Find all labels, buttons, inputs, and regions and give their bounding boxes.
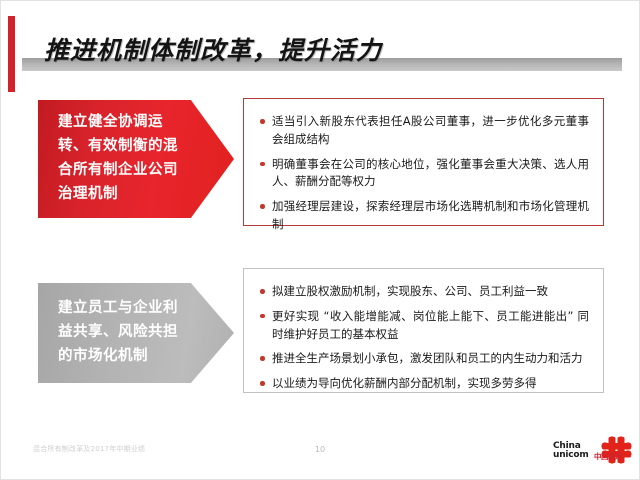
- unicom-wordmark-chinese: 中国联通: [594, 451, 622, 462]
- section-arrow-1-label: 建立健全协调运转、有效制衡的混合所有制企业公司治理机制: [38, 111, 234, 207]
- list-item: 拟建立股权激励机制，实现股东、公司、员工利益一致: [258, 283, 589, 301]
- list-item: 明确董事会在公司的核心地位，强化董事会重大决策、选人用人、薪酬分配等权力: [258, 156, 589, 192]
- section-arrow-2: 建立员工与企业利益共享、风险共担的市场化机制: [38, 283, 234, 383]
- list-item: 推进全生产场景划小承包，激发团队和员工的内生动力和活力: [258, 350, 589, 368]
- bullet-list-1: 适当引入新股东代表担任A股公司董事，进一步优化多元董事会组成结构 明确董事会在公…: [258, 113, 589, 234]
- bullet-list-2: 拟建立股权激励机制，实现股东、公司、员工利益一致 更好实现 “收入能增能减、岗位…: [258, 283, 589, 393]
- page-number: 10: [0, 445, 640, 454]
- section-content-box-1: 适当引入新股东代表担任A股公司董事，进一步优化多元董事会组成结构 明确董事会在公…: [243, 98, 604, 226]
- slide-border: [0, 0, 640, 480]
- presentation-slide: 推进机制体制改革，提升活力 建立健全协调运转、有效制衡的混合所有制企业公司治理机…: [0, 0, 640, 480]
- page-title: 推进机制体制改革，提升活力: [44, 31, 382, 67]
- section-arrow-1: 建立健全协调运转、有效制衡的混合所有制企业公司治理机制: [38, 100, 234, 218]
- title-accent-bar: [8, 16, 15, 92]
- list-item: 加强经理层建设，探索经理层市场化选聘机制和市场化管理机制: [258, 198, 589, 234]
- list-item: 更好实现 “收入能增能减、岗位能上能下、员工能进能出” 同时维护好员工的基本权益: [258, 308, 589, 344]
- section-content-box-2: 拟建立股权激励机制，实现股东、公司、员工利益一致 更好实现 “收入能增能减、岗位…: [243, 268, 604, 393]
- list-item: 以业绩为导向优化薪酬内部分配机制，实现多劳多得: [258, 375, 589, 393]
- section-arrow-2-label: 建立员工与企业利益共享、风险共担的市场化机制: [38, 297, 234, 369]
- china-unicom-logo: China unicom 中国联通: [553, 436, 633, 468]
- list-item: 适当引入新股东代表担任A股公司董事，进一步优化多元董事会组成结构: [258, 113, 589, 149]
